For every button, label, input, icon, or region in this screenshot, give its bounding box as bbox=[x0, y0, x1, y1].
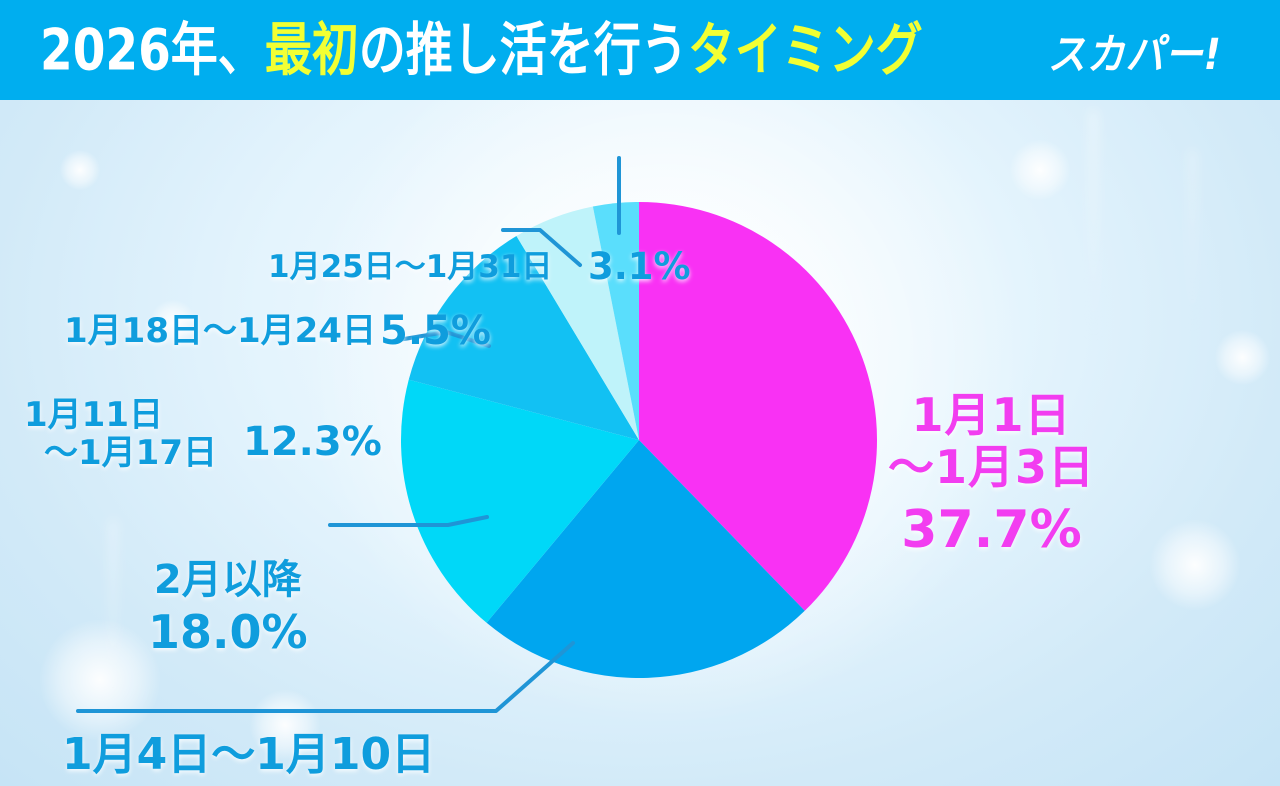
slice-name-1: 1月4日〜1月10日 bbox=[62, 730, 435, 779]
slice-label-1月4日-1月10日: 1月4日〜1月10日 23.3% bbox=[62, 730, 435, 786]
slice-name-2: 2月以降 bbox=[148, 558, 308, 603]
slice-pct-3: 12.3% bbox=[243, 420, 382, 465]
title-part-4-highlight: タイミング bbox=[688, 16, 923, 83]
title-part-1: 2026年、 bbox=[40, 16, 265, 83]
slice-name-line2-0: 〜1月3日 bbox=[888, 442, 1095, 494]
slice-label-1月1日-1月3日: 1月1日 〜1月3日 37.7% bbox=[888, 390, 1095, 559]
slice-pct-0: 37.7% bbox=[888, 501, 1095, 559]
slice-label-1月25日-1月31日: 1月25日〜1月31日 bbox=[268, 250, 552, 285]
pie-chart-area: 1月1日 〜1月3日 37.7% 1月4日〜1月10日 23.3% 2月以降 1… bbox=[0, 100, 1280, 786]
slice-label-1月11日-1月17日: 1月11日 〜1月17日 bbox=[24, 396, 217, 472]
page-title: 2026年、最初の推し活を行うタイミング bbox=[40, 21, 923, 78]
skyperfectv-logo: スカパー! bbox=[1048, 19, 1222, 81]
slice-label-1月18日-1月24日: 1月18日〜1月24日 bbox=[64, 312, 376, 350]
header-bar: 2026年、最初の推し活を行うタイミング スカパー! bbox=[0, 0, 1280, 100]
slice-name-line2-3: 〜1月17日 bbox=[44, 434, 217, 472]
slice-pct-5: 3.1% bbox=[588, 246, 691, 287]
slice-name-line1-0: 1月1日 bbox=[888, 390, 1095, 442]
title-part-3: の推し活を行う bbox=[359, 16, 688, 83]
infographic-poster: 2026年、最初の推し活を行うタイミング スカパー! 1月1日 〜1月3日 37… bbox=[0, 0, 1280, 786]
slice-label-2月以降: 2月以降 18.0% bbox=[148, 558, 308, 658]
slice-pct-4: 5.5% bbox=[380, 309, 491, 354]
slice-pct-2: 18.0% bbox=[148, 607, 308, 659]
slice-name-line1-3: 1月11日 bbox=[24, 396, 217, 434]
title-part-2-highlight: 最初 bbox=[265, 16, 359, 83]
